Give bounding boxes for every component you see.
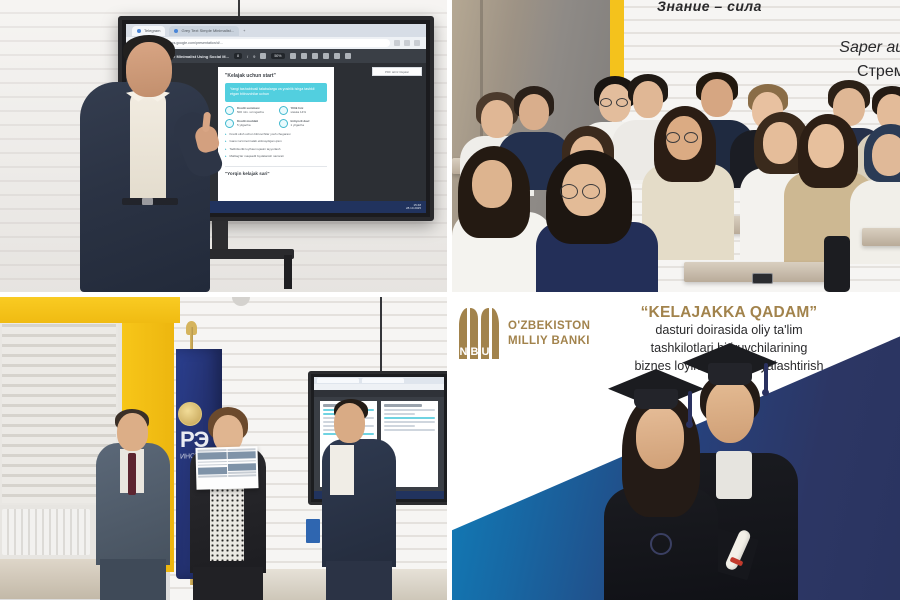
panel-presenter-photo[interactable]: Telegram Grey Text Simple Minimalist... … <box>0 0 447 292</box>
svg-text:N: N <box>460 346 468 358</box>
taskbar-clock: 15:48 28.10.2025 <box>406 204 421 211</box>
slide-icon <box>174 29 178 33</box>
svg-text:B: B <box>471 346 479 358</box>
official-face <box>334 403 365 443</box>
brochure-right-page <box>227 448 256 487</box>
avatar-icon[interactable] <box>414 40 420 46</box>
official-face <box>117 413 148 451</box>
presenter-face <box>126 42 172 97</box>
slide-feature-title: Kredit muddati <box>237 119 258 123</box>
graduate-students-photo <box>598 337 818 600</box>
presenter-shirt <box>130 92 166 202</box>
graduate-shirt <box>716 451 752 499</box>
rotate-icon[interactable] <box>312 53 318 59</box>
official-legs <box>100 559 166 600</box>
zoom-value[interactable]: 50% <box>271 53 284 59</box>
percent-icon <box>279 106 288 115</box>
bullet-dot-icon: ▸ <box>225 132 227 137</box>
slide-text-line <box>384 413 415 415</box>
slide-feature-title: Imtiyozli davr <box>291 119 310 123</box>
brochure-left-page <box>198 449 227 488</box>
nbu-arch-logo: N B U <box>458 307 500 359</box>
student-face <box>808 124 844 168</box>
bullet-dot-icon: ▸ <box>225 147 227 152</box>
brochure-photo <box>227 463 256 471</box>
front-table <box>0 559 110 599</box>
browser-tab-bar[interactable] <box>314 377 444 384</box>
slide-highlight: Yangi tashabbusli talabalarga va yoshlik… <box>225 83 327 102</box>
wall-quote-top: Знание – сила <box>657 0 762 14</box>
eyeglasses-icon <box>600 98 612 107</box>
fit-page-icon[interactable] <box>301 53 307 59</box>
browser-tab[interactable] <box>362 378 404 383</box>
browser-tab-bar[interactable]: Telegram Grey Text Simple Minimalist... … <box>126 24 426 37</box>
student-face <box>872 134 900 176</box>
official-shirt <box>330 445 354 495</box>
brochure-text-line <box>198 464 227 466</box>
eyeglasses-icon <box>582 184 600 199</box>
browser-tab-1[interactable]: Grey Text Simple Minimalist... <box>169 26 239 36</box>
wall-quote-right-1: Saper aude <box>839 39 900 57</box>
official-patterned-blouse <box>210 483 244 561</box>
wall-cable <box>380 297 382 373</box>
slide-feature: Kredit muddati5 yilgacha <box>225 119 274 128</box>
student-face <box>472 160 512 208</box>
pdf-viewer-toolbar[interactable] <box>314 390 444 397</box>
slide-feature-detail: stavka 14% <box>291 110 307 114</box>
slide-bullet: ▸Mablag'lar maqsadli foydalanish nazorat… <box>225 154 327 159</box>
clock-date: 28.10.2025 <box>406 206 421 210</box>
money-icon <box>225 106 234 115</box>
held-booklet <box>306 519 320 543</box>
minus-icon[interactable] <box>260 53 266 59</box>
slide-bullet-text: Tadbirkorlik loyihasi rejasini tayyorlas… <box>230 147 281 152</box>
cap-tassel-knot <box>686 421 693 428</box>
address-input[interactable]: https://docs.google.com/presentation/d/.… <box>152 39 390 47</box>
bullet-dot-icon: ▸ <box>225 154 227 159</box>
banner-title: “KELAJAKKA QADAM” <box>562 303 896 322</box>
brochure-text-line <box>198 475 227 477</box>
slide-text-line <box>384 409 435 411</box>
undo-icon[interactable] <box>334 53 340 59</box>
slide-text-line <box>384 425 415 427</box>
browser-tab-0-label: Telegram <box>144 28 160 33</box>
slide-bullet: ▸Tadbirkorlik loyihasi rejasini tayyorla… <box>225 147 327 152</box>
telegram-icon <box>137 29 141 33</box>
classroom-chair <box>824 236 850 292</box>
eyeglasses-icon <box>666 132 680 143</box>
grace-icon <box>279 119 288 128</box>
page-current[interactable]: 8 <box>234 53 242 59</box>
browser-tab-1-label: Grey Text Simple Minimalist... <box>181 28 234 33</box>
bullet-dot-icon: ▸ <box>225 139 227 144</box>
yellow-ceiling-trim <box>0 297 180 323</box>
graduate-face <box>706 381 754 443</box>
slide-feature-detail: 500 mln. so'mgacha <box>237 110 264 114</box>
slide-bullet: ▸Kredit olish uchun bitiruvchilar yosh c… <box>225 132 327 137</box>
panel-officials-photo[interactable]: РЭ ИНСТИТУТ <box>0 297 447 600</box>
slide-bullet-text: Garov ta'minoti talab etilmaydigan qism <box>230 139 282 144</box>
photo-collage: Telegram Grey Text Simple Minimalist... … <box>0 0 900 600</box>
slide-text-line <box>384 421 435 423</box>
smartphone-on-desk <box>752 273 773 284</box>
slide-feature-title: Yillik foiz <box>291 106 304 110</box>
slide-feature-title: Kredit summasi <box>237 106 260 110</box>
new-tab-button[interactable]: + <box>243 28 245 33</box>
eyeglasses-icon <box>560 184 578 199</box>
wall-quote-right-2: Стремись <box>857 63 900 81</box>
slide-feature: Kredit summasi500 mln. so'mgacha <box>225 106 274 115</box>
pdf-side-card: PDF tahrir Rejalar <box>372 67 422 76</box>
slide-heading-line <box>384 404 422 407</box>
official-skirt <box>193 567 263 600</box>
yellow-wall-strip <box>610 0 624 78</box>
slide-heading: "Kelajak uchun start" <box>225 73 327 79</box>
presenter-belt-buckle <box>142 198 153 205</box>
browser-tab-0[interactable]: Telegram <box>132 26 165 36</box>
slide-feature: Yillik foizstavka 14% <box>279 106 328 115</box>
star-icon[interactable] <box>394 40 400 46</box>
brochure-photo <box>198 452 227 460</box>
slide-bullet-text: Kredit olish uchun bitiruvchilar yosh ch… <box>230 132 291 137</box>
slide-feature-detail: 1 yilgacha <box>291 123 305 127</box>
panel-nbu-banner[interactable]: N B U O'ZBEKISTON MILLIY BANKI “KELAJAKK… <box>452 297 900 600</box>
brochure-text-line <box>198 461 227 463</box>
plus-icon[interactable] <box>290 53 296 59</box>
brochure-text-line <box>228 475 257 477</box>
brochure-text-line <box>198 449 227 451</box>
panel-audience-photo[interactable]: Знание – сила Saper aude Стремись <box>452 0 900 292</box>
slide-highlight-line <box>384 417 435 419</box>
student-body <box>850 180 900 264</box>
slide-footer: "Yorqin kelajak sari" <box>225 166 327 176</box>
brochure-text-line <box>227 448 256 450</box>
graduation-cap-base <box>634 389 678 409</box>
radiator <box>2 509 90 555</box>
graduate-necklace <box>650 533 672 555</box>
page-total: 9 <box>253 54 255 59</box>
slide-feature-detail: 5 yilgacha <box>237 123 251 127</box>
present-icon[interactable] <box>323 53 329 59</box>
flag-emblem-icon <box>178 402 202 426</box>
slide-bullet: ▸Garov ta'minoti talab etilmaydigan qism <box>225 139 327 144</box>
edit-icon[interactable] <box>345 53 351 59</box>
slide-text-line <box>384 429 435 431</box>
official-necktie <box>128 453 136 495</box>
slide-feature: Imtiyozli davr1 yilgacha <box>279 119 328 128</box>
puzzle-icon[interactable] <box>404 40 410 46</box>
page-separator: / <box>247 54 248 59</box>
slide-feature-grid: Kredit summasi500 mln. so'mgacha Yillik … <box>225 106 327 128</box>
official-legs <box>326 561 392 600</box>
student-face <box>519 94 549 130</box>
browser-tab[interactable] <box>317 378 359 383</box>
slide-page: "Kelajak uchun start" Yangi tashabbusli … <box>218 67 334 201</box>
student-desk <box>862 228 900 246</box>
calendar-icon <box>225 119 234 128</box>
cap-tassel <box>688 391 692 425</box>
programme-brochure <box>195 446 258 490</box>
svg-text:U: U <box>482 346 490 358</box>
graduation-cap-base <box>708 363 752 385</box>
cap-tassel-knot <box>762 389 769 396</box>
brochure-photo <box>227 451 256 459</box>
student <box>536 150 658 292</box>
display-stand-leg <box>284 255 292 289</box>
slide-bullet-list: ▸Kredit olish uchun bitiruvchilar yosh c… <box>225 132 327 159</box>
graduate-face <box>636 407 684 469</box>
brochure-photo <box>198 467 227 475</box>
brochure-text-line <box>228 471 257 473</box>
brochure-text-line <box>227 460 256 462</box>
slide-bullet-text: Mablag'lar maqsadli foydalanish nazorati <box>230 154 284 159</box>
eyeglasses-icon <box>684 132 698 143</box>
